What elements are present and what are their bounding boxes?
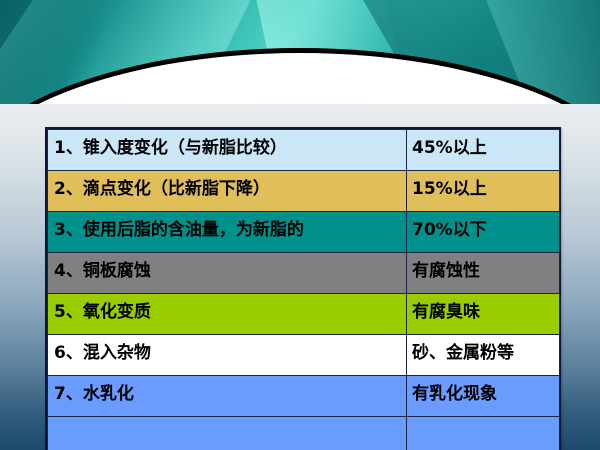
table-row: 3、使用后脂的含油量，为新脂的 70%以下 bbox=[48, 212, 560, 253]
criteria-threshold-cell: 砂、金属粉等 bbox=[407, 335, 560, 376]
criteria-table-body: 1、锥入度变化（与新脂比较） 45%以上 2、滴点变化（比新脂下降） 15%以上… bbox=[48, 130, 560, 450]
criteria-item-cell: 7、水乳化 bbox=[48, 376, 407, 417]
criteria-item-cell: 1、锥入度变化（与新脂比较） bbox=[48, 130, 407, 171]
slide-canvas: 1、锥入度变化（与新脂比较） 45%以上 2、滴点变化（比新脂下降） 15%以上… bbox=[0, 0, 600, 450]
criteria-threshold-cell: 有乳化现象 bbox=[407, 376, 560, 417]
teal-banner bbox=[0, 0, 600, 104]
table-row: 6、混入杂物 砂、金属粉等 bbox=[48, 335, 560, 376]
table-row: 4、铜板腐蚀 有腐蚀性 bbox=[48, 253, 560, 294]
criteria-threshold-cell bbox=[407, 417, 560, 450]
criteria-item-cell bbox=[48, 417, 407, 450]
criteria-item-cell: 6、混入杂物 bbox=[48, 335, 407, 376]
criteria-threshold-cell: 15%以上 bbox=[407, 171, 560, 212]
criteria-item-cell: 4、铜板腐蚀 bbox=[48, 253, 407, 294]
criteria-threshold-cell: 70%以下 bbox=[407, 212, 560, 253]
criteria-item-cell: 3、使用后脂的含油量，为新脂的 bbox=[48, 212, 407, 253]
table-row: 7、水乳化 有乳化现象 bbox=[48, 376, 560, 417]
criteria-threshold-cell: 45%以上 bbox=[407, 130, 560, 171]
table-row: 2、滴点变化（比新脂下降） 15%以上 bbox=[48, 171, 560, 212]
criteria-item-cell: 2、滴点变化（比新脂下降） bbox=[48, 171, 407, 212]
criteria-table: 1、锥入度变化（与新脂比较） 45%以上 2、滴点变化（比新脂下降） 15%以上… bbox=[47, 129, 560, 450]
criteria-threshold-cell: 有腐臭味 bbox=[407, 294, 560, 335]
criteria-table-container: 1、锥入度变化（与新脂比较） 45%以上 2、滴点变化（比新脂下降） 15%以上… bbox=[45, 127, 561, 450]
criteria-item-cell: 5、氧化变质 bbox=[48, 294, 407, 335]
criteria-threshold-cell: 有腐蚀性 bbox=[407, 253, 560, 294]
table-row: 5、氧化变质 有腐臭味 bbox=[48, 294, 560, 335]
table-row: 1、锥入度变化（与新脂比较） 45%以上 bbox=[48, 130, 560, 171]
table-row bbox=[48, 417, 560, 450]
